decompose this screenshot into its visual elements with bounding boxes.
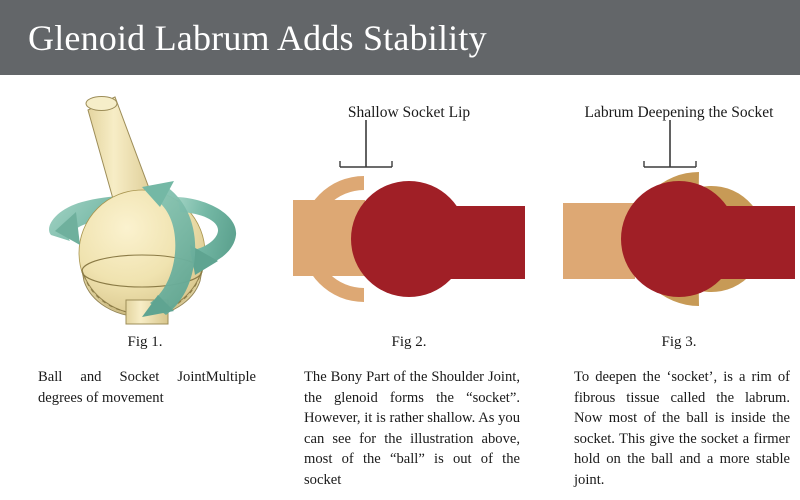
glenoid-socket-cup <box>82 255 202 317</box>
figure-3-caption: To deepen the ‘socket’, is a rim of fibr… <box>574 367 790 490</box>
figure-3-number: Fig 3. <box>558 333 800 351</box>
glenoid-bone-block <box>293 200 365 276</box>
scapula-neck-stub <box>126 300 168 324</box>
humerus-shaft-bar <box>679 206 795 279</box>
labrum-rim <box>632 172 764 306</box>
rotation-arrow-front <box>55 197 236 275</box>
humeral-head-ball <box>351 181 467 297</box>
page-title: Glenoid Labrum Adds Stability <box>28 14 487 62</box>
humerus-shaft <box>86 97 162 239</box>
humerus-shaft-bar <box>409 206 525 279</box>
figure-3-column: Labrum Deepening the Socket <box>558 75 800 500</box>
figure-1-column: Fig 1. Ball and Socket JointMultiple deg… <box>14 75 276 500</box>
shallow-socket-diagram <box>288 75 530 325</box>
figure-1-caption: Ball and Socket JointMultiple degrees of… <box>38 367 256 408</box>
inverted-t-leader-line <box>340 120 392 167</box>
humeral-head-ball <box>79 190 205 316</box>
rotation-arrow-rear <box>49 195 182 241</box>
rotation-arrow-vertical <box>142 181 195 317</box>
figure-2-number: Fig 2. <box>288 333 530 351</box>
glenoid-bone-block <box>563 203 635 279</box>
figure-1-number: Fig 1. <box>14 333 276 351</box>
humeral-head-ball <box>621 181 737 297</box>
shallow-socket-lip <box>301 176 364 302</box>
deepened-socket-labrum-diagram <box>558 75 800 325</box>
title-band: Glenoid Labrum Adds Stability <box>0 0 800 75</box>
figure-2-column: Shallow Socket Lip <box>288 75 530 500</box>
inverted-t-leader-line <box>644 120 696 167</box>
ball-and-socket-joint-illustration <box>14 75 276 325</box>
figure-2-caption: The Bony Part of the Shoulder Joint, the… <box>304 367 520 490</box>
